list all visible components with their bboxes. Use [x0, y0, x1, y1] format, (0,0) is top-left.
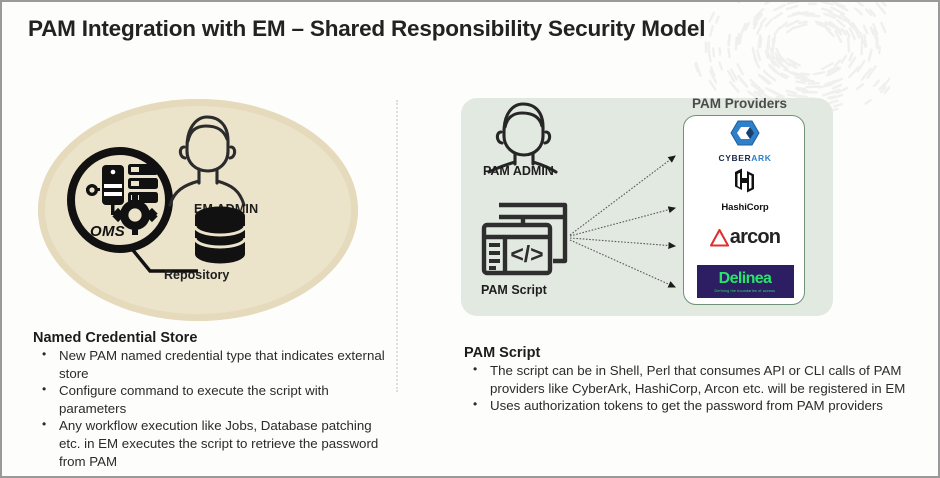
person-icon — [484, 100, 560, 174]
provider-logo-hashicorp[interactable]: HashiCorp — [684, 165, 805, 215]
arcon-wordmark: arcon — [730, 226, 780, 249]
pam-script-section: PAM Script The script can be in Shell, P… — [464, 345, 932, 415]
provider-logo-cyberark[interactable]: CYBERARK — [684, 118, 805, 165]
code-window-icon: </> — [479, 199, 571, 279]
database-icon — [190, 205, 250, 267]
bullet-list: The script can be in Shell, Perl that co… — [464, 362, 932, 415]
provider-logo-arcon[interactable]: arcon — [684, 215, 805, 259]
cyberark-wordmark: CYBERARK — [719, 153, 772, 163]
named-credential-store-section: Named Credential Store New PAM named cre… — [33, 330, 393, 470]
cyberark-icon — [730, 120, 760, 146]
left-diagram: OMS EM ADMIN — [38, 99, 358, 321]
bullet-list: New PAM named credential type that indic… — [33, 347, 393, 470]
delinea-logo-box: Delinea Defining the boundaries of acces… — [697, 265, 794, 298]
list-item: Uses authorization tokens to get the pas… — [464, 397, 932, 415]
slide-canvas: PAM Integration with EM – Shared Respons… — [0, 0, 940, 478]
hashicorp-icon — [731, 167, 758, 194]
section-divider — [396, 100, 398, 392]
repository-label: Repository — [164, 268, 229, 282]
pam-script-label: PAM Script — [481, 283, 547, 297]
provider-logo-delinea[interactable]: Delinea Defining the boundaries of acces… — [684, 259, 805, 304]
list-item: The script can be in Shell, Perl that co… — [464, 362, 932, 397]
list-item: Configure command to execute the script … — [33, 382, 393, 417]
arcon-triangle-icon — [710, 228, 729, 247]
page-title: PAM Integration with EM – Shared Respons… — [28, 16, 705, 42]
section-heading: PAM Script — [464, 345, 932, 361]
delinea-wordmark: Delinea — [719, 271, 772, 287]
pam-providers-card: CYBERARK HashiCorp arcon — [683, 115, 805, 305]
oms-label: OMS — [90, 223, 125, 240]
delinea-tagline: Defining the boundaries of access — [715, 288, 776, 292]
list-item: New PAM named credential type that indic… — [33, 347, 393, 382]
pam-admin-label: PAM ADMIN — [483, 164, 554, 178]
list-item: Any workflow execution like Jobs, Databa… — [33, 417, 393, 470]
hashicorp-wordmark: HashiCorp — [721, 202, 768, 213]
pam-providers-title: PAM Providers — [692, 96, 787, 111]
section-heading: Named Credential Store — [33, 330, 393, 346]
person-icon — [164, 111, 246, 207]
svg-text:</>: </> — [510, 241, 543, 267]
